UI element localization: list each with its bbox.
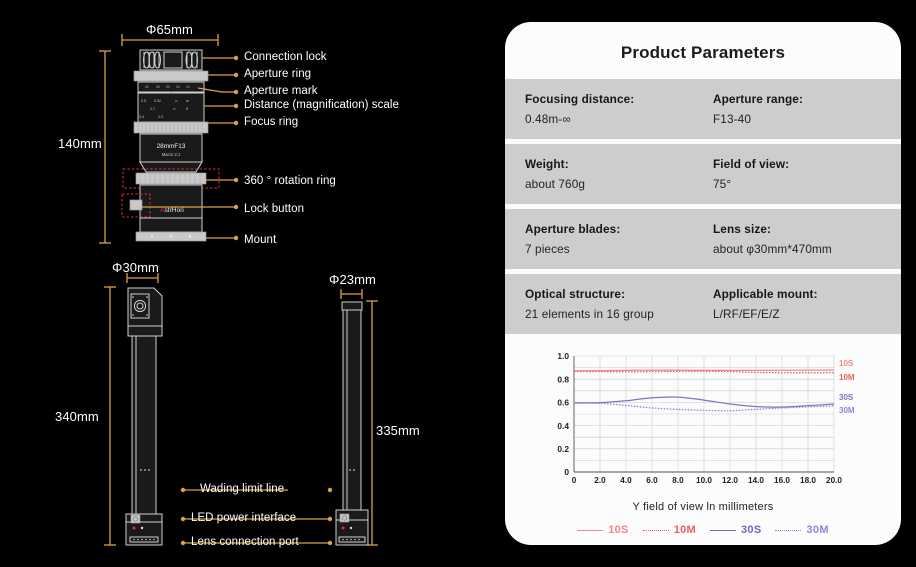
spec-key: Lens size:	[713, 222, 881, 236]
svg-text:28: 28	[156, 85, 160, 89]
lens-mount	[136, 218, 206, 241]
dimension-label-phi65: Φ65mm	[146, 22, 193, 37]
callout-distance-scale: Distance (magnification) scale	[244, 99, 399, 111]
spec-cell: Focusing distance: 0.48m-∞	[525, 92, 703, 126]
spec-value: F13-40	[713, 112, 881, 126]
spec-value: 21 elements in 16 group	[525, 307, 703, 321]
svg-text:∞: ∞	[173, 107, 176, 111]
svg-text:20.0: 20.0	[826, 476, 842, 485]
svg-text:10M: 10M	[839, 373, 855, 382]
spec-key: Field of view:	[713, 157, 881, 171]
svg-text:30S: 30S	[839, 393, 854, 402]
lens-model-text: 28mmF13	[157, 143, 186, 150]
svg-text:1.7: 1.7	[150, 107, 155, 111]
lens-model-barrel: 28mmF13 Macro 2:1	[140, 134, 202, 162]
callout-rotation-ring: 360 ° rotation ring	[244, 175, 336, 187]
svg-text:0.2: 0.2	[557, 444, 569, 454]
legend-swatch	[643, 530, 669, 531]
spec-row: Optical structure: 21 elements in 16 gro…	[505, 274, 901, 334]
lens-focus-ring	[134, 122, 208, 133]
chart-legend: 10S10M30S30M	[505, 524, 901, 536]
spec-cell: Optical structure: 21 elements in 16 gro…	[525, 287, 703, 321]
svg-text:6.0: 6.0	[646, 476, 658, 485]
svg-text:1.0: 1.0	[557, 351, 569, 361]
callout-lines-bottom-right	[328, 488, 332, 545]
svg-text:30M: 30M	[839, 406, 855, 415]
legend-swatch	[710, 530, 736, 531]
svg-text:10.0: 10.0	[696, 476, 712, 485]
brand-text: AstrHori	[160, 207, 184, 214]
spec-value: 75°	[713, 177, 881, 191]
svg-text:0.5: 0.5	[141, 99, 146, 103]
svg-text:0.4: 0.4	[139, 115, 144, 119]
spec-key: Weight:	[525, 157, 703, 171]
svg-text:2.0: 2.0	[594, 476, 606, 485]
dimension-label-phi30: Φ30mm	[112, 260, 159, 275]
svg-text:10S: 10S	[839, 359, 854, 368]
lens-technical-diagram: .ol { fill:none; stroke:#cfcfcf; stroke-…	[0, 0, 496, 567]
callout-lens-connection-port: Lens connection port	[191, 536, 299, 548]
lens-macro-text: Macro 2:1	[162, 152, 181, 157]
svg-text:20: 20	[166, 85, 170, 89]
dimension-340mm	[104, 287, 116, 545]
spec-key: Optical structure:	[525, 287, 703, 301]
probe-lens-right	[336, 302, 368, 545]
callout-wading-limit-line: Wading limit line	[200, 483, 284, 495]
spec-key: Aperture range:	[713, 92, 881, 106]
svg-text:0.4: 0.4	[557, 421, 569, 431]
svg-text:13: 13	[186, 85, 190, 89]
mtf-chart-svg: 00.20.40.60.81.002.04.06.08.010.012.014.…	[538, 348, 868, 500]
legend-label: 30M	[806, 524, 828, 536]
svg-text:14.0: 14.0	[748, 476, 764, 485]
lens-taper	[140, 162, 202, 172]
product-parameters-card: Product Parameters Focusing distance: 0.…	[505, 22, 901, 545]
spec-table: Focusing distance: 0.48m-∞ Aperture rang…	[505, 79, 901, 334]
svg-text:16.0: 16.0	[774, 476, 790, 485]
svg-text:0: 0	[564, 467, 569, 477]
card-title: Product Parameters	[505, 22, 901, 63]
spec-cell: Lens size: about φ30mm*470mm	[703, 222, 881, 256]
lens-lower-barrel: AstrHori	[140, 185, 202, 218]
dimension-phi23	[341, 289, 362, 299]
callout-aperture-mark: Aperture mark	[244, 85, 318, 97]
dimension-label-335mm: 335mm	[376, 423, 420, 438]
spec-cell: Applicable mount: L/RF/EF/E/Z	[703, 287, 881, 321]
svg-text:0.6: 0.6	[557, 398, 569, 408]
legend-item: 10S	[577, 524, 628, 536]
spec-row: Focusing distance: 0.48m-∞ Aperture rang…	[505, 79, 901, 139]
spec-value: about 760g	[525, 177, 703, 191]
callout-lock-button: Lock button	[244, 203, 304, 215]
spec-cell: Aperture blades: 7 pieces	[525, 222, 703, 256]
svg-text:8.0: 8.0	[672, 476, 684, 485]
svg-text:0.52: 0.52	[154, 99, 161, 103]
dimension-label-340mm: 340mm	[55, 409, 99, 424]
dimension-label-phi23: Φ23mm	[329, 272, 376, 287]
legend-item: 30M	[775, 524, 828, 536]
callout-led-power-interface: LED power interface	[191, 512, 296, 524]
lens-aperture-ring	[134, 71, 208, 81]
spec-key: Focusing distance:	[525, 92, 703, 106]
legend-label: 10S	[608, 524, 628, 536]
spec-value: 0.48m-∞	[525, 112, 703, 126]
lens-distance-scale: 0.50.52 ∞m 1.7∞ ft 0.41.2	[138, 93, 204, 122]
svg-text:m: m	[186, 99, 189, 103]
svg-text:ft: ft	[186, 107, 188, 111]
svg-text:18.0: 18.0	[800, 476, 816, 485]
spec-key: Aperture blades:	[525, 222, 703, 236]
spec-value: 7 pieces	[525, 242, 703, 256]
legend-item: 30S	[710, 524, 761, 536]
callout-focus-ring: Focus ring	[244, 116, 298, 128]
spec-row: Aperture blades: 7 pieces Lens size: abo…	[505, 209, 901, 269]
svg-text:1.2: 1.2	[158, 115, 163, 119]
lens-connection-lock	[140, 50, 202, 70]
svg-text:0: 0	[572, 476, 577, 485]
screenshot-root: .ol { fill:none; stroke:#cfcfcf; stroke-…	[0, 0, 916, 567]
wading-limit-line-marker	[140, 469, 150, 471]
chart-x-axis-title: Y field of view ln millimeters	[505, 501, 901, 513]
probe-lens-left	[126, 288, 162, 545]
callout-mount: Mount	[244, 234, 276, 246]
svg-text:16: 16	[176, 85, 180, 89]
dimension-label-140mm: 140mm	[58, 136, 102, 151]
svg-text:4.0: 4.0	[620, 476, 632, 485]
legend-swatch	[775, 530, 801, 531]
legend-swatch	[577, 530, 603, 531]
callout-connection-lock: Connection lock	[244, 51, 327, 63]
callout-aperture-ring: Aperture ring	[244, 68, 311, 80]
spec-cell: Field of view: 75°	[703, 157, 881, 191]
spec-cell: Aperture range: F13-40	[703, 92, 881, 126]
svg-text:12.0: 12.0	[722, 476, 738, 485]
spec-row: Weight: about 760g Field of view: 75°	[505, 144, 901, 204]
svg-text:40: 40	[145, 85, 149, 89]
svg-text:∞: ∞	[175, 99, 178, 103]
spec-cell: Weight: about 760g	[525, 157, 703, 191]
svg-text:0.8: 0.8	[557, 374, 569, 384]
spec-key: Applicable mount:	[713, 287, 881, 301]
spec-value: L/RF/EF/E/Z	[713, 307, 881, 321]
spec-value: about φ30mm*470mm	[713, 242, 881, 256]
legend-label: 30S	[741, 524, 761, 536]
mtf-chart: 00.20.40.60.81.002.04.06.08.010.012.014.…	[505, 348, 901, 538]
legend-item: 10M	[643, 524, 696, 536]
legend-label: 10M	[674, 524, 696, 536]
